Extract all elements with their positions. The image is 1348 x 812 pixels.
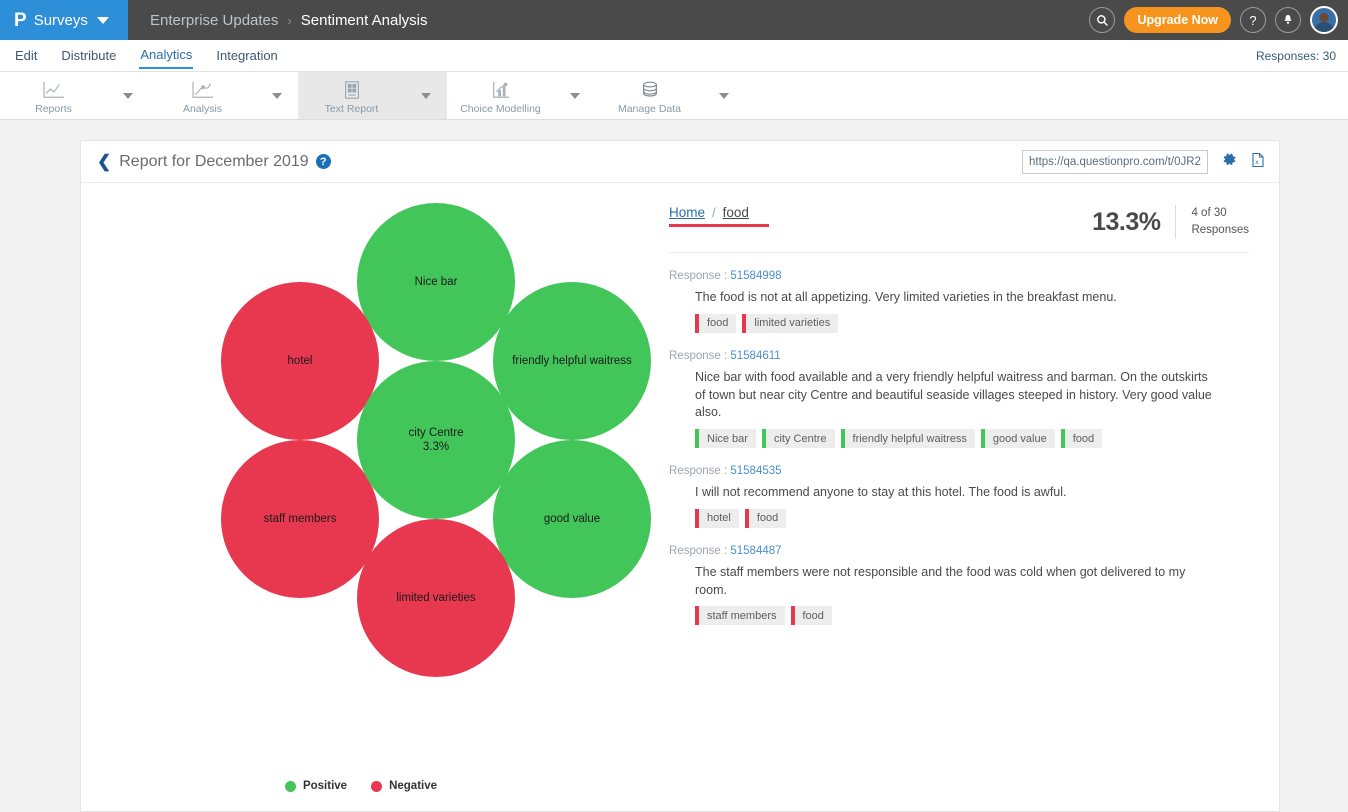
legend-item-negative[interactable]: Negative [371,780,437,792]
bubble-label: good value [544,512,600,526]
response-count-line1: 4 of 30 [1191,207,1226,219]
sentiment-tag-label: staff members [699,606,785,625]
legend-dot-negative [371,781,382,792]
sentiment-tag-label: food [795,606,832,625]
response-tag-list: foodlimited varieties [695,314,1249,333]
sentiment-tag[interactable]: city Centre [762,429,835,448]
responses-header: Home / food 13.3% 4 of 30 Responses [669,205,1249,253]
response-text: The food is not at all appetizing. Very … [695,289,1215,307]
nav-item-edit[interactable]: Edit [14,43,38,68]
response-item: Response : 51584998The food is not at al… [669,270,1249,333]
top-bar: P Surveys Enterprise Updates › Sentiment… [0,0,1348,40]
chart-legend: Positive Negative [81,780,641,792]
toolbar-label-manage-data: Manage Data [618,103,681,115]
bubble-label: friendly helpful waitress [512,354,632,368]
sentiment-tag[interactable]: food [695,314,736,333]
toolbar-group-reports: Reports [0,72,149,119]
toolbar-caret-text-report[interactable] [405,72,447,119]
breadcrumb-parent-link[interactable]: Enterprise Updates [150,12,278,29]
top-bar-actions: Upgrade Now ? [1089,0,1338,40]
legend-label-positive: Positive [303,780,347,792]
sentiment-tag[interactable]: staff members [695,606,785,625]
trend-chart-icon [191,79,215,101]
svg-text:x: x [1255,159,1259,166]
avatar[interactable] [1310,6,1338,34]
response-item: Response : 51584611Nice bar with food av… [669,350,1249,448]
response-id-line: Response : 51584611 [669,350,1249,362]
toolbar-label-choice-modelling: Choice Modelling [460,103,541,115]
response-item: Response : 51584487The staff members wer… [669,545,1249,626]
responses-list: Response : 51584998The food is not at al… [669,270,1249,625]
bubble-nice-bar[interactable]: Nice bar [357,203,515,361]
sentiment-tag[interactable]: good value [981,429,1055,448]
sentiment-tag-label: food [699,314,736,333]
toolbar-label-analysis: Analysis [183,103,222,115]
response-count-text: 4 of 30 Responses [1191,205,1249,238]
scatter-chart-icon [490,79,512,101]
sentiment-tag[interactable]: limited varieties [742,314,838,333]
breadcrumb-underline-bar [669,224,769,227]
responses-panel: Home / food 13.3% 4 of 30 Responses [641,183,1279,812]
bubble-good-value[interactable]: good value [493,440,651,598]
toolbar-group-text-report: Text Report [298,72,447,119]
percentage-value: 13.3% [1092,208,1160,237]
bubble-label: limited varieties [396,591,475,605]
responses-count: Responses: 30 [1256,49,1336,63]
toolbar-label-text-report: Text Report [325,103,379,115]
bubble-label: city Centre [409,426,464,440]
report-card-actions: x [1022,150,1265,174]
breadcrumb-current: Sentiment Analysis [301,12,428,29]
toolbar-caret-analysis[interactable] [256,72,298,119]
toolbar-label-reports: Reports [35,103,72,115]
sentiment-tag-label: Nice bar [699,429,756,448]
response-tag-list: staff membersfood [695,606,1249,625]
chevron-down-icon [719,93,729,99]
sentiment-tag[interactable]: food [745,509,786,528]
gear-icon[interactable] [1222,152,1237,171]
toolbar-item-analysis[interactable]: Analysis [149,72,256,119]
response-count-line2: Responses [1191,224,1249,236]
bubble-label: hotel [288,354,313,368]
text-report-icon [341,79,363,101]
main-nav: Edit Distribute Analytics Integration Re… [0,40,1348,72]
toolbar-group-analysis: Analysis [149,72,298,119]
response-id-link[interactable]: 51584611 [730,350,780,362]
search-icon[interactable] [1089,7,1115,33]
nav-item-analytics[interactable]: Analytics [139,42,193,69]
breadcrumb-current-topic[interactable]: food [723,205,749,220]
report-url-input[interactable] [1022,150,1208,174]
database-icon [639,79,661,101]
bubble-friendly-helpful-waitress[interactable]: friendly helpful waitress [493,282,651,440]
sentiment-tag[interactable]: hotel [695,509,739,528]
breadcrumb-separator-icon: › [287,13,291,28]
sentiment-tag-label: hotel [699,509,739,528]
legend-dot-positive [285,781,296,792]
sentiment-tag[interactable]: Nice bar [695,429,756,448]
response-id-line: Response : 51584535 [669,465,1249,477]
bubble-value-label: 3.3% [423,440,449,454]
back-chevron-icon[interactable]: ❮ [97,152,111,172]
sentiment-bubble-chart: Nice barhotelfriendly helpful waitressci… [81,183,641,812]
response-text: I will not recommend anyone to stay at t… [695,484,1215,502]
breadcrumb-home-link[interactable]: Home [669,205,705,220]
bubble-hotel[interactable]: hotel [221,282,379,440]
sentiment-tag-label: good value [985,429,1055,448]
chevron-down-icon [272,93,282,99]
nav-item-integration[interactable]: Integration [215,43,278,68]
response-id-link[interactable]: 51584998 [730,270,781,282]
toolbar-item-reports[interactable]: Reports [0,72,107,119]
upgrade-now-button[interactable]: Upgrade Now [1124,7,1231,33]
toolbar-caret-reports[interactable] [107,72,149,119]
report-card: ❮ Report for December 2019 ? x [80,140,1280,812]
responses-breadcrumb: Home / food [669,205,749,220]
chevron-down-icon [421,93,431,99]
toolbar-item-choice-modelling[interactable]: Choice Modelling [447,72,554,119]
toolbar-group-choice-modelling: Choice Modelling [447,72,596,119]
bubble-limited-varieties[interactable]: limited varieties [357,519,515,677]
legend-label-negative: Negative [389,780,437,792]
chevron-down-icon [570,93,580,99]
response-tag-list: Nice barcity Centrefriendly helpful wait… [695,429,1249,448]
toolbar-caret-choice-modelling[interactable] [554,72,596,119]
notifications-bell-icon[interactable] [1275,7,1301,33]
stat-divider [1175,205,1176,239]
breadcrumb: Enterprise Updates › Sentiment Analysis [150,12,427,29]
bubble-label: Nice bar [415,275,458,289]
report-card-header: ❮ Report for December 2019 ? x [81,141,1279,183]
nav-item-distribute[interactable]: Distribute [60,43,117,68]
response-item: Response : 51584535I will not recommend … [669,465,1249,528]
response-text: The staff members were not responsible a… [695,564,1215,600]
product-switcher-label: Surveys [34,12,88,29]
bubble-city-centre[interactable]: city Centre3.3% [357,361,515,519]
help-icon[interactable]: ? [1240,7,1266,33]
chevron-down-icon [123,93,133,99]
legend-item-positive[interactable]: Positive [285,780,347,792]
sentiment-tag-label: limited varieties [746,314,838,333]
response-id-link[interactable]: 51584487 [730,545,781,557]
chevron-down-icon[interactable] [97,17,109,24]
bubble-label: staff members [264,512,337,526]
response-id-line: Response : 51584487 [669,545,1249,557]
response-text: Nice bar with food available and a very … [695,369,1215,422]
sentiment-tag-label: food [749,509,786,528]
export-document-icon[interactable]: x [1251,152,1265,172]
line-chart-icon [42,79,66,101]
responses-stats: 13.3% 4 of 30 Responses [1092,205,1249,239]
sentiment-tag-label: city Centre [766,429,835,448]
response-tag-list: hotelfood [695,509,1249,528]
sentiment-tag[interactable]: food [1061,429,1102,448]
toolbar-item-text-report[interactable]: Text Report [298,72,405,119]
brand-home-button[interactable]: P Surveys [0,0,128,40]
toolbar-caret-manage-data[interactable] [703,72,745,119]
page-container: ❮ Report for December 2019 ? x [0,120,1348,812]
response-id-link[interactable]: 51584535 [730,465,781,477]
toolbar-item-manage-data[interactable]: Manage Data [596,72,703,119]
help-icon[interactable]: ? [316,154,331,169]
toolbar-group-manage-data: Manage Data [596,72,745,119]
sentiment-tag-label: food [1065,429,1102,448]
sentiment-tag[interactable]: friendly helpful waitress [841,429,975,448]
breadcrumb-separator: / [712,205,716,220]
bubble-staff-members[interactable]: staff members [221,440,379,598]
questionpro-logo-icon: P [14,11,27,30]
response-id-line: Response : 51584998 [669,270,1249,282]
page-title: Report for December 2019 [119,153,308,171]
sentiment-tag-label: friendly helpful waitress [845,429,975,448]
report-card-body: Nice barhotelfriendly helpful waitressci… [81,183,1279,812]
analytics-toolbar: Reports Analysis Text Report [0,72,1348,120]
sentiment-tag[interactable]: food [791,606,832,625]
